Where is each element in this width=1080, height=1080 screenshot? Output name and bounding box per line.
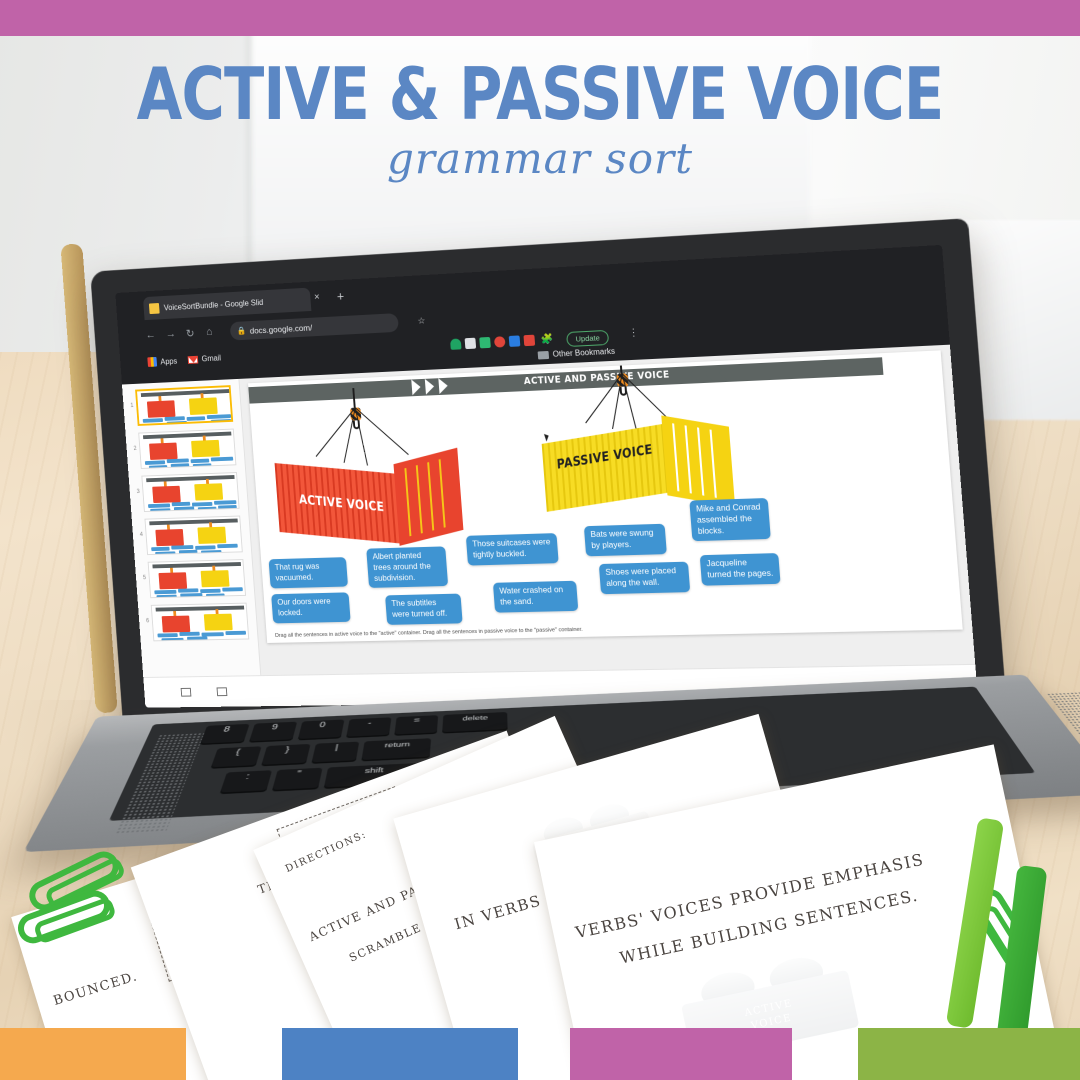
slide-thumbnail[interactable] <box>148 559 246 598</box>
bookmark-other[interactable]: Other Bookmarks <box>538 347 616 360</box>
sentence-card[interactable]: Albert planted trees around the subdivis… <box>366 546 448 588</box>
color-gap-1 <box>186 1028 282 1080</box>
active-container-rigging <box>348 407 363 431</box>
bookmark-gmail[interactable]: Gmail <box>188 354 222 364</box>
close-tab-icon[interactable]: × <box>314 293 320 303</box>
worksheet-text: DIRECTIONS: <box>284 829 369 875</box>
key-right-brace[interactable]: } <box>261 744 310 765</box>
home-icon[interactable]: ⌂ <box>206 326 213 338</box>
bookmark-gmail-label: Gmail <box>201 354 221 364</box>
keyboard-number-row[interactable]: 8 9 0 - = delete <box>200 712 507 744</box>
laptop-screen: VoiceSortBundle - Google Slid × + ← → ↻ … <box>115 245 978 708</box>
key-0[interactable]: 0 <box>298 719 345 739</box>
thumbnail-row[interactable]: 1 <box>126 385 238 426</box>
current-slide[interactable]: ACTIVE AND PASSIVE VOICE <box>248 350 963 643</box>
sentence-card[interactable]: That rug was vacuumed. <box>269 557 348 588</box>
sentence-card[interactable]: Water crashed on the sand. <box>493 581 578 613</box>
sentence-card[interactable]: Shoes were placed along the wall. <box>599 562 690 594</box>
sentence-card[interactable]: Our doors were locked. <box>271 592 351 623</box>
bookmark-apps-label: Apps <box>160 356 177 365</box>
top-color-band <box>0 0 1080 36</box>
slide-canvas-area[interactable]: ACTIVE AND PASSIVE VOICE <box>239 345 975 675</box>
thumbnail-number: 2 <box>129 433 137 452</box>
apps-icon <box>147 357 157 367</box>
keyboard-bracket-row[interactable]: { } | return <box>211 738 431 767</box>
bookmark-apps[interactable]: Apps <box>147 356 177 367</box>
worksheet-text: SCRAMBLE <box>347 921 424 965</box>
poster-title-block: ACTIVE & PASSIVE VOICE grammar sort <box>0 36 1080 176</box>
bottom-color-bar <box>0 1028 1080 1080</box>
sentence-card[interactable]: Those suitcases were tightly buckled. <box>466 533 559 565</box>
lock-icon: 🔒 <box>236 326 246 335</box>
worksheet-text: BOUNCED. <box>52 969 140 1009</box>
grid-view-icon[interactable] <box>217 687 228 696</box>
color-block-magenta <box>570 1028 792 1080</box>
bookmark-star-icon[interactable]: ☆ <box>417 316 426 327</box>
thumbnail-number: 3 <box>132 476 140 495</box>
thumbnail-number: 6 <box>142 605 150 624</box>
key-pipe[interactable]: | <box>312 742 360 763</box>
color-gap-3 <box>792 1028 858 1080</box>
key-9[interactable]: 9 <box>249 722 297 742</box>
slide-thumbnail[interactable] <box>151 603 249 642</box>
thumbnail-number: 1 <box>126 390 134 409</box>
key-quote[interactable]: " <box>272 768 322 790</box>
thumbnail-row[interactable]: 5 <box>139 559 251 598</box>
thumbnail-row[interactable]: 4 <box>135 515 247 555</box>
sentence-card[interactable]: Jacqueline turned the pages. <box>700 553 781 585</box>
speaker-notes-icon[interactable] <box>181 688 192 697</box>
thumbnail-row[interactable]: 3 <box>132 472 244 512</box>
google-slides-app: 1 <box>122 345 978 708</box>
key-delete[interactable]: delete <box>442 712 507 732</box>
slide-thumbnail[interactable] <box>144 516 242 556</box>
folder-icon <box>538 350 550 359</box>
key-minus[interactable]: - <box>346 717 391 736</box>
url-text: docs.google.com/ <box>249 322 312 335</box>
key-8[interactable]: 8 <box>200 724 249 744</box>
tab-title: VoiceSortBundle - Google Slid <box>164 298 264 312</box>
key-left-brace[interactable]: { <box>211 746 262 767</box>
back-icon[interactable]: ← <box>145 329 156 341</box>
thumbnail-number: 4 <box>135 519 143 538</box>
page-subtitle: grammar sort <box>0 134 1080 183</box>
address-bar[interactable]: 🔒 docs.google.com/ <box>230 313 399 340</box>
color-block-orange <box>0 1028 186 1080</box>
thumbnail-number: 5 <box>139 562 147 581</box>
color-gap-2 <box>518 1028 570 1080</box>
left-speaker-grille <box>115 733 205 835</box>
active-voice-container[interactable]: ACTIVE VOICE <box>274 451 464 551</box>
color-block-green <box>858 1028 1080 1080</box>
thumbnail-row[interactable]: 6 <box>142 603 254 642</box>
new-tab-icon[interactable]: + <box>336 290 344 303</box>
key-return[interactable]: return <box>361 738 431 760</box>
forward-icon[interactable]: → <box>165 328 176 340</box>
slide-thumbnail[interactable] <box>138 429 236 469</box>
color-block-blue <box>282 1028 518 1080</box>
page-title: ACTIVE & PASSIVE VOICE <box>97 58 983 130</box>
slide-thumbnail-panel[interactable]: 1 <box>122 379 261 677</box>
thumbnail-row[interactable]: 2 <box>129 428 241 469</box>
passive-container-rigging <box>614 373 630 398</box>
sentence-card[interactable]: The subtitles were turned off. <box>385 594 463 625</box>
sentence-card[interactable]: Mike and Conrad assembled the blocks. <box>689 498 771 542</box>
key-colon[interactable]: : <box>220 770 272 792</box>
bookmark-other-label: Other Bookmarks <box>552 347 615 359</box>
reload-icon[interactable]: ↻ <box>186 327 195 340</box>
gmail-icon <box>188 355 199 363</box>
key-equals[interactable]: = <box>394 715 438 734</box>
slide-instructions: Drag all the sentences in active voice t… <box>275 620 942 639</box>
slides-favicon <box>149 303 160 314</box>
slide-thumbnail[interactable] <box>135 385 233 426</box>
sentence-card[interactable]: Bats were swung by players. <box>584 524 667 556</box>
slide-thumbnail[interactable] <box>141 472 239 512</box>
